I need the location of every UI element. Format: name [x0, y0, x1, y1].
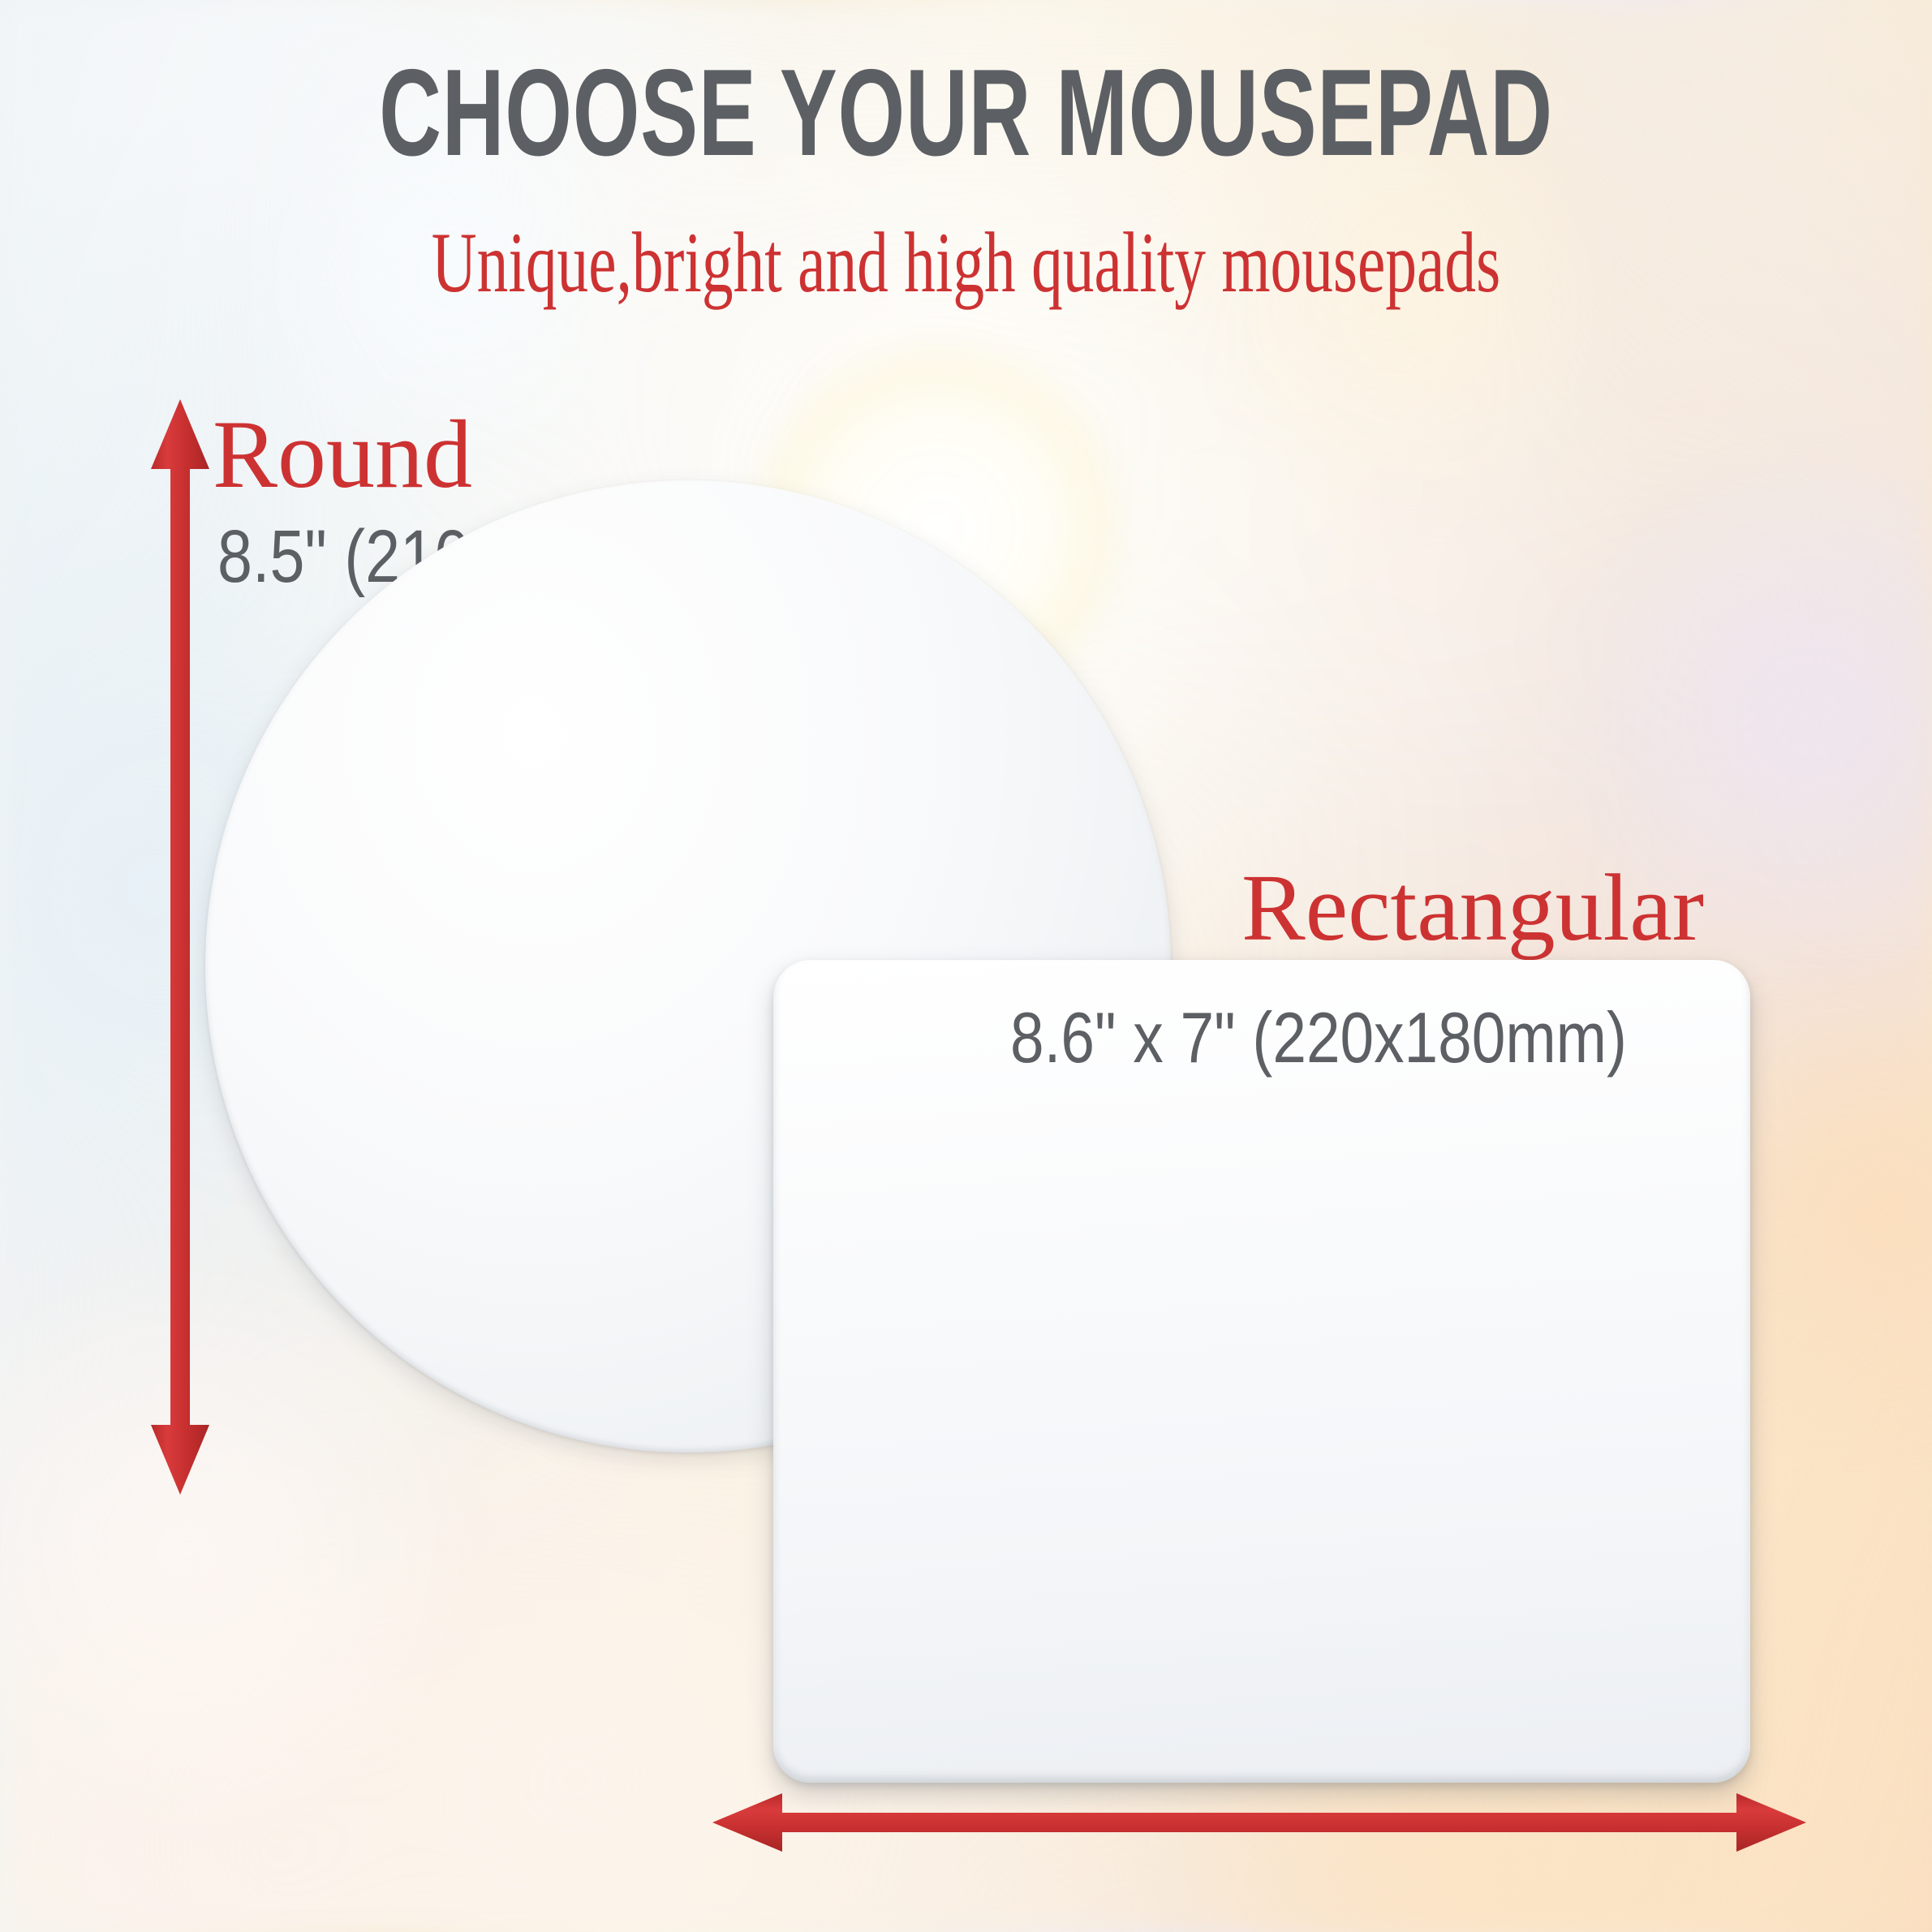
vertical-double-arrow-icon: [135, 399, 226, 1495]
rectangular-product-label: Rectangular: [1241, 860, 1704, 956]
page-subtitle: Unique,bright and high quality mousepads: [260, 217, 1671, 308]
page-title: CHOOSE YOUR MOUSEPAD: [290, 50, 1642, 176]
rectangular-dimension-text: 8.6" x 7" (220x180mm): [1010, 1002, 1627, 1074]
mousepad-infographic: CHOOSE YOUR MOUSEPAD Unique,bright and h…: [0, 0, 1932, 1932]
rectangular-mousepad-image: [773, 960, 1750, 1783]
horizontal-double-arrow-icon: [712, 1777, 1806, 1868]
round-product-label: Round: [213, 406, 472, 503]
